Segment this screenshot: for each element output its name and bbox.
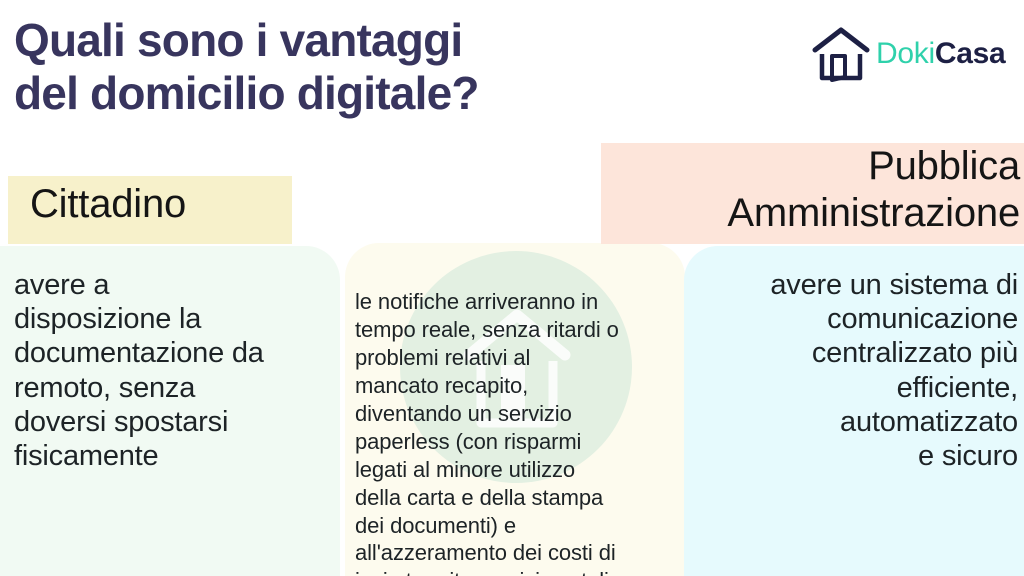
- header-label-pubblica-amministrazione: Pubblica Amministrazione: [610, 143, 1020, 237]
- brand-name-doki: Doki: [876, 37, 935, 70]
- header-chip-pubblica-amministrazione: Pubblica Amministrazione: [601, 143, 1024, 244]
- page-title: Quali sono i vantaggi del domicilio digi…: [14, 14, 674, 121]
- header-label-cittadino: Cittadino: [30, 182, 186, 227]
- brand-logo[interactable]: DokiCasa: [812, 26, 1005, 82]
- brand-name-casa: Casa: [935, 37, 1006, 70]
- header-chip-cittadino: Cittadino: [8, 176, 292, 244]
- body-text-middle: le notifiche arriveranno in tempo reale,…: [355, 288, 687, 576]
- house-outline-icon: [812, 26, 870, 82]
- brand-logo-text: DokiCasa: [876, 37, 1005, 71]
- body-text-pubblica-amministrazione: avere un sistema di comunicazione centra…: [688, 268, 1018, 473]
- body-text-cittadino: avere a disposizione la documentazione d…: [14, 268, 344, 473]
- slide-canvas: Quali sono i vantaggi del domicilio digi…: [0, 0, 1024, 576]
